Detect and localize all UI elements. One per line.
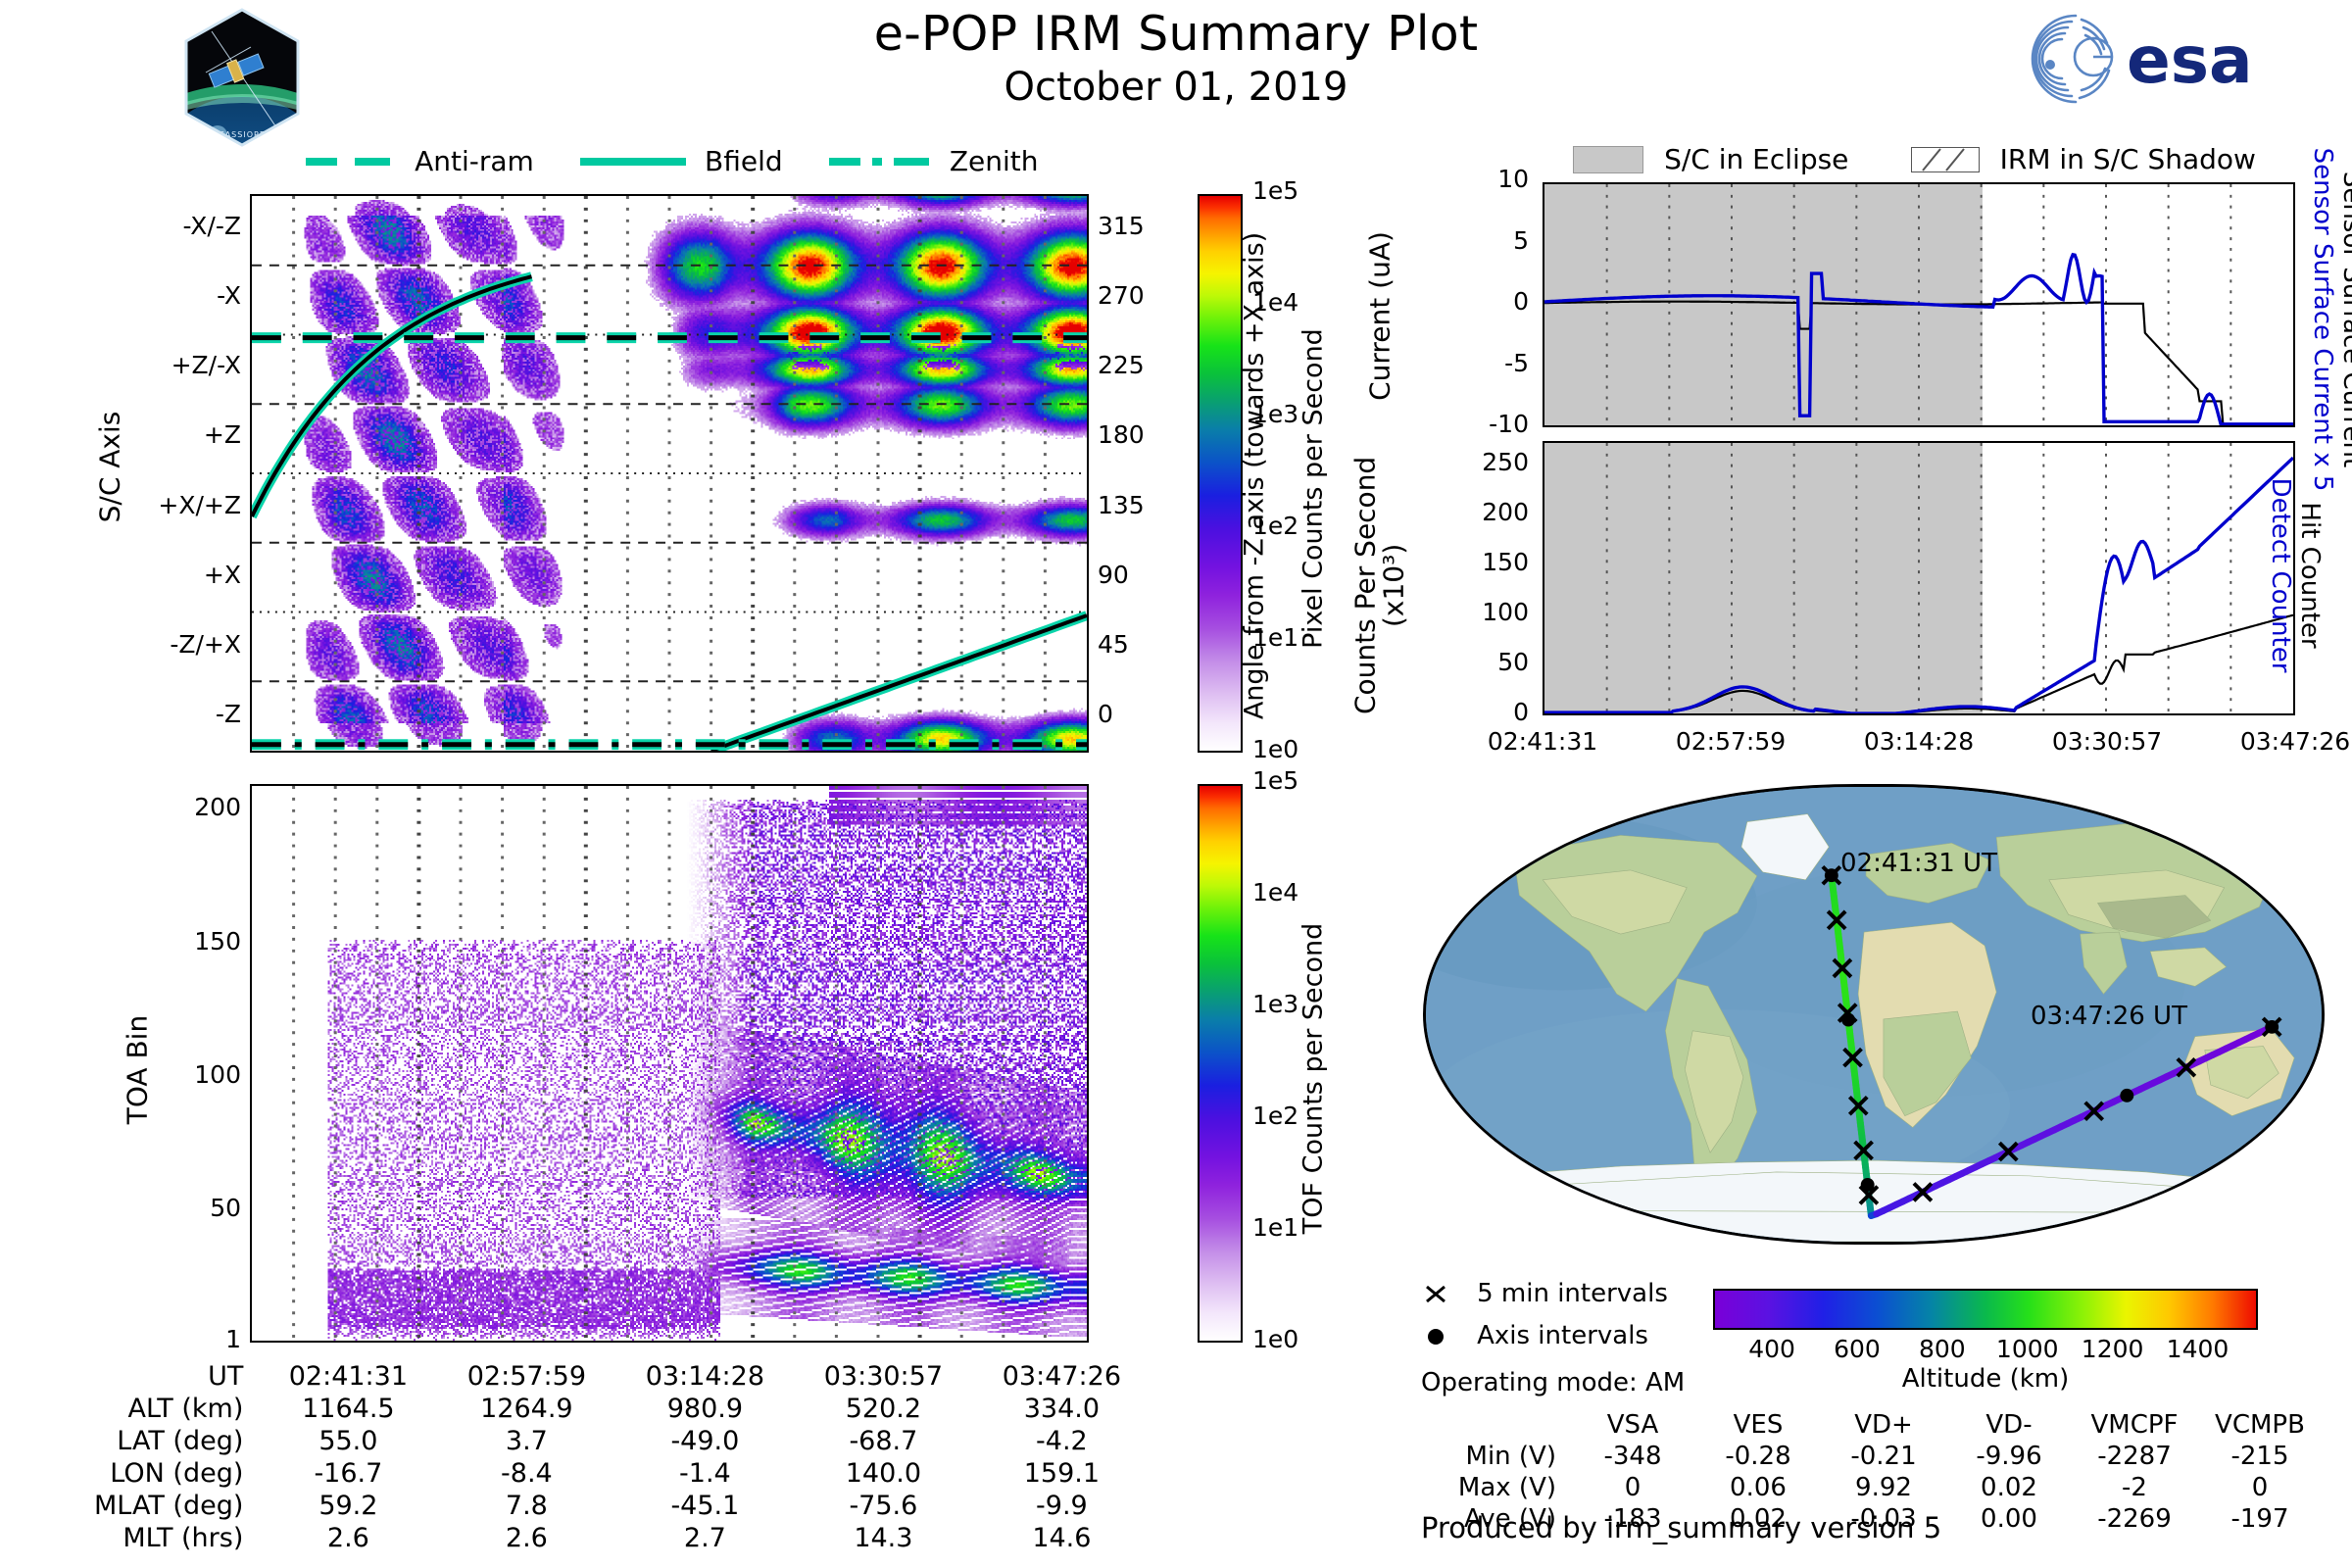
voltage-row-label: Min (V) [1441,1441,1570,1472]
counts-xtick: 03:47:26 [2192,727,2352,756]
cross-marker-icon [1421,1280,1450,1307]
voltage-cell: 0 [2197,1472,2323,1503]
voltage-column-header: VES [1695,1409,1821,1441]
ephemeris-cell: -1.4 [615,1457,794,1490]
voltage-cell: 9.92 [1821,1472,1946,1503]
map-end-time-label: 03:47:26 UT [2031,1002,2187,1031]
ephemeris-row-label: MLAT (deg) [94,1490,259,1522]
voltage-cell: 0.02 [1946,1472,2072,1503]
angle-ytick-right: 90 [1098,561,1156,589]
zenith-legend-label: Zenith [950,145,1039,177]
ephemeris-cell: 59.2 [259,1490,437,1522]
angle-spectrogram-plot [250,194,1089,753]
angle-overlay-curves [252,196,1087,751]
voltage-cell: -348 [1570,1441,1695,1472]
angle-ytick-right: 0 [1098,700,1156,728]
voltage-cell: -2269 [2072,1503,2197,1535]
voltage-column-header: VCMPB [2197,1409,2323,1441]
voltage-cell: 0.00 [1946,1503,2072,1535]
ephemeris-cell: 1264.9 [437,1393,615,1425]
voltage-cell: -0.21 [1821,1441,1946,1472]
tof-counts-colorbar-title: TOF Counts per Second [1298,805,1329,1353]
angle-ytick-left: +X [59,561,241,589]
voltage-cell: -197 [2197,1503,2323,1535]
counts-xtick: 03:30:57 [2004,727,2210,756]
counts-plot [1543,441,2295,715]
ephemeris-row: LON (deg)-16.7-8.4-1.4140.0159.1 [94,1457,1151,1490]
ephemeris-cell: -68.7 [794,1425,972,1457]
ephemeris-cell: 520.2 [794,1393,972,1425]
altitude-colorbar-title: Altitude (km) [1713,1364,2258,1394]
voltage-cell: 0.06 [1695,1472,1821,1503]
angle-ytick-right: 45 [1098,630,1156,659]
toa-ytick: 200 [69,793,241,821]
svg-text:esa: esa [2127,23,2253,98]
map-legend-dot-row: Axis intervals [1421,1321,1648,1350]
ephemeris-cell: -9.9 [972,1490,1151,1522]
toa-spectrogram-plot [250,784,1089,1343]
angle-ytick-left: -X [59,281,241,310]
ephemeris-cell: -75.6 [794,1490,972,1522]
ephemeris-cell: 2.6 [259,1522,437,1554]
tof-counts-colorbar [1198,784,1243,1343]
bfield-legend-swatch [578,151,693,170]
toa-ytick: 1 [69,1325,241,1353]
ephemeris-row: LAT (deg)55.03.7-49.0-68.7-4.2 [94,1425,1151,1457]
esa-logo: esa [2011,10,2285,108]
voltage-corner-cell [1441,1409,1570,1441]
toa-gridlines [252,786,1087,1341]
angle-ytick-right: 180 [1098,420,1156,449]
ephemeris-cell: 980.9 [615,1393,794,1425]
voltage-cell: -9.96 [1946,1441,2072,1472]
voltage-cell: -2 [2072,1472,2197,1503]
pixel-counts-colorbar [1198,194,1243,753]
altitude-tick: 1400 [2138,1335,2256,1363]
altitude-colorbar [1713,1289,2258,1330]
toa-y-axis-title: TOA Bin [122,953,154,1188]
counts-xtick: 03:14:28 [1816,727,2022,756]
shadow-legend-swatch [1911,149,1984,168]
counts-xtick: 02:41:31 [1440,727,1645,756]
ephemeris-cell: 14.6 [972,1522,1151,1554]
operating-mode-label: Operating mode: AM [1421,1368,1685,1397]
ephemeris-cell: 2.7 [615,1522,794,1554]
track-dot-marker [1861,1178,1875,1192]
voltage-header-row: VSAVESVD+VD-VMCPFVCMPB [1441,1409,2323,1441]
ephemeris-row-label: UT [94,1360,259,1393]
ephemeris-table: UT02:41:3102:57:5903:14:2803:30:5703:47:… [94,1360,1151,1554]
ephemeris-row-label: ALT (km) [94,1393,259,1425]
tof-colorbar-tick: 1e5 [1252,766,1360,795]
voltage-column-header: VD- [1946,1409,2072,1441]
counts-y-axis-title: Counts Per Second (x10³) [1351,418,1409,752]
ephemeris-cell: 03:14:28 [615,1360,794,1393]
ephemeris-cell: 03:30:57 [794,1360,972,1393]
voltage-cell: -215 [2197,1441,2323,1472]
voltage-cell: -2287 [2072,1441,2197,1472]
ephemeris-row-label: LON (deg) [94,1457,259,1490]
ephemeris-cell: 02:41:31 [259,1360,437,1393]
page-subtitle-date: October 01, 2019 [0,65,2352,110]
ephemeris-row: ALT (km)1164.51264.9980.9520.2334.0 [94,1393,1151,1425]
voltage-row-label: Max (V) [1441,1472,1570,1503]
ephemeris-cell: -8.4 [437,1457,615,1490]
ephemeris-cell: -16.7 [259,1457,437,1490]
right-panel-legend: S/C in Eclipse IRM in S/C Shadow [1573,143,2256,175]
ephemeris-cell: 03:47:26 [972,1360,1151,1393]
current-plot [1543,182,2295,427]
ephemeris-cell: -4.2 [972,1425,1151,1457]
ephemeris-row-label: LAT (deg) [94,1425,259,1457]
eclipse-legend-swatch [1573,146,1643,173]
counts-xtick: 02:57:59 [1628,727,1834,756]
ephemeris-cell: 1164.5 [259,1393,437,1425]
angle-ytick-right: 315 [1098,212,1156,240]
map-legend-dot-label: Axis intervals [1477,1321,1648,1350]
bfield-legend-label: Bfield [705,145,783,177]
antiram-legend-label: Anti-ram [415,145,534,177]
pixel-counts-colorbar-title: Pixel Counts per Second [1298,215,1329,763]
eclipse-legend-label: S/C in Eclipse [1664,143,1848,175]
track-dot-marker [2120,1089,2133,1102]
voltage-cell: -0.28 [1695,1441,1821,1472]
map-legend-cross-row: 5 min intervals [1421,1279,1668,1308]
footer-credit: Produced by irm_summary version 5 [1421,1511,1941,1544]
angle-ytick-left: -X/-Z [59,212,241,240]
angle-y-axis-right-title: Angle from -Z axis (towards +X axis) [1240,202,1270,751]
left-panel-legend: Anti-ram Bfield Zenith [304,145,1038,177]
angle-y-axis-title: S/C Axis [94,340,126,595]
cassiope-mission-badge-icon: CASSIOPE [182,8,302,147]
toa-ytick: 50 [69,1194,241,1222]
dot-marker-icon [1421,1322,1450,1349]
voltage-column-header: VMCPF [2072,1409,2197,1441]
ephemeris-row: UT02:41:3102:57:5903:14:2803:30:5703:47:… [94,1360,1151,1393]
ephemeris-cell: 02:57:59 [437,1360,615,1393]
angle-ytick-left: +Z [59,420,241,449]
track-endpoint-marker [1825,868,1838,882]
ephemeris-cell: 7.8 [437,1490,615,1522]
voltage-column-header: VD+ [1821,1409,1946,1441]
ephemeris-cell: 140.0 [794,1457,972,1490]
antiram-legend-swatch [304,151,403,170]
voltage-row: Max (V)00.069.920.02-20 [1441,1472,2323,1503]
angle-ytick-left: +Z/-X [59,351,241,379]
shadow-legend-label: IRM in S/C Shadow [2000,143,2256,175]
angle-ytick-left: -Z/+X [59,630,241,659]
ephemeris-row: MLT (hrs)2.62.62.714.314.6 [94,1522,1151,1554]
ephemeris-cell: 55.0 [259,1425,437,1457]
toa-ytick: 100 [69,1060,241,1089]
ephemeris-row-label: MLT (hrs) [94,1522,259,1554]
angle-ytick-right: 270 [1098,281,1156,310]
ephemeris-cell: 334.0 [972,1393,1151,1425]
ephemeris-cell: 14.3 [794,1522,972,1554]
zenith-legend-swatch [827,151,938,170]
ephemeris-cell: 159.1 [972,1457,1151,1490]
voltage-cell: 0 [1570,1472,1695,1503]
map-legend-cross-label: 5 min intervals [1477,1279,1668,1308]
counts-right-label-black: Hit Counter [2295,433,2325,717]
voltage-row: Min (V)-348-0.28-0.21-9.96-2287-215 [1441,1441,2323,1472]
voltage-column-header: VSA [1570,1409,1695,1441]
current-right-label-black: Sensor Surface Current [2337,128,2352,511]
ephemeris-cell: -49.0 [615,1425,794,1457]
angle-ytick-left: -Z [59,700,241,728]
ephemeris-cell: -45.1 [615,1490,794,1522]
ephemeris-cell: 2.6 [437,1522,615,1554]
page-title: e-POP IRM Summary Plot [0,6,2352,62]
pixel-colorbar-tick: 1e5 [1252,176,1360,205]
ephemeris-row: MLAT (deg)59.27.8-45.1-75.6-9.9 [94,1490,1151,1522]
ephemeris-cell: 3.7 [437,1425,615,1457]
angle-ytick-left: +X/+Z [59,491,241,519]
map-start-time-label: 02:41:31 UT [1840,849,1997,878]
toa-ytick: 150 [69,927,241,955]
counts-right-label-blue: Detect Counter [2266,433,2295,717]
track-endpoint-marker [2265,1020,2278,1034]
angle-ytick-right: 135 [1098,491,1156,519]
angle-ytick-right: 225 [1098,351,1156,379]
track-dot-marker [1841,1013,1855,1027]
